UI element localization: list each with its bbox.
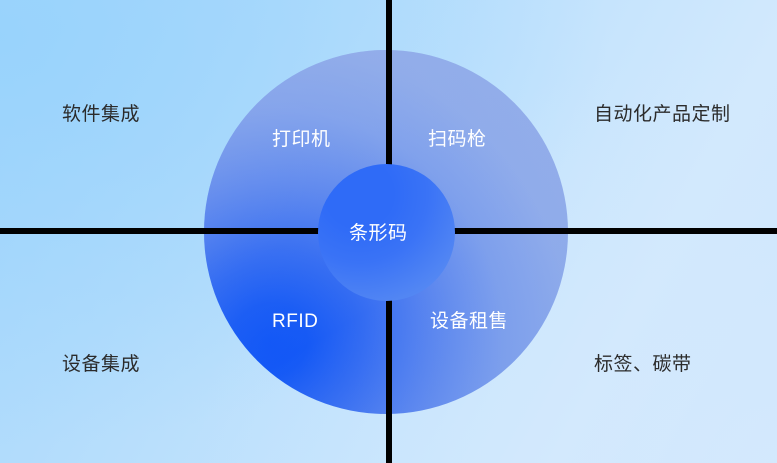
- ring-label-scanner: 扫码枪: [428, 130, 487, 149]
- quadrant-caption-software-integration: 软件集成: [62, 105, 140, 124]
- ring-label-equipment-rental: 设备租售: [430, 312, 508, 331]
- diagram-canvas: 软件集成 自动化产品定制 设备集成 标签、碳带 打印机 扫码枪 RFID 设备租…: [0, 0, 777, 463]
- ring-label-printer: 打印机: [272, 130, 331, 149]
- quadrant-caption-labels-ribbons: 标签、碳带: [594, 355, 692, 374]
- ring-label-rfid: RFID: [272, 312, 318, 331]
- center-label-barcode: 条形码: [349, 224, 408, 243]
- quadrant-caption-device-integration: 设备集成: [62, 355, 140, 374]
- quadrant-caption-automation-customization: 自动化产品定制: [594, 105, 731, 124]
